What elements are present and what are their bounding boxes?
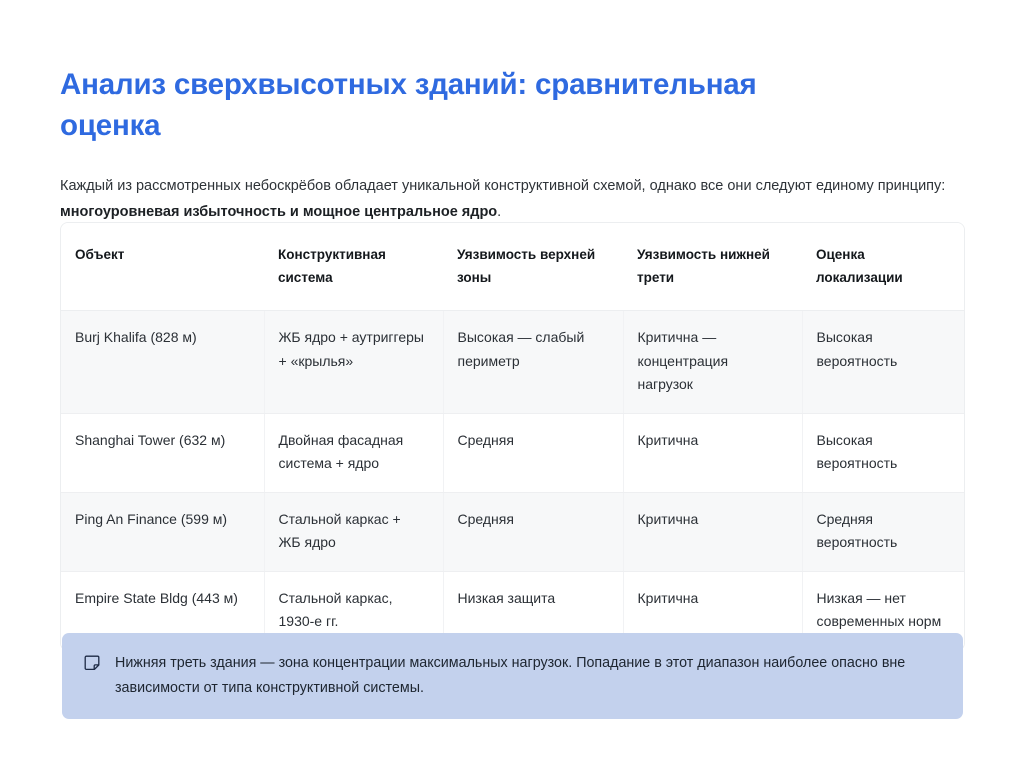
note-icon <box>84 655 100 671</box>
column-header-localization: Оценка локализации <box>802 223 964 311</box>
comparison-table: Объект Конструктивная система Уязвимость… <box>61 223 964 650</box>
cell-lower-third: Критична <box>623 492 802 571</box>
cell-system: Двойная фасадная система + ядро <box>264 413 443 492</box>
note-callout-text: Нижняя треть здания — зона концентрации … <box>115 651 937 701</box>
cell-localization: Средняя вероятность <box>802 492 964 571</box>
cell-localization: Высокая вероятность <box>802 413 964 492</box>
table-header-row: Объект Конструктивная система Уязвимость… <box>61 223 964 311</box>
cell-object: Shanghai Tower (632 м) <box>61 413 264 492</box>
page-title: Анализ сверхвысотных зданий: сравнительн… <box>60 64 860 146</box>
cell-object: Ping An Finance (599 м) <box>61 492 264 571</box>
column-header-lower-third: Уязвимость нижней трети <box>623 223 802 311</box>
table-body: Burj Khalifa (828 м) ЖБ ядро + аутриггер… <box>61 311 964 650</box>
column-header-system: Конструктивная система <box>264 223 443 311</box>
cell-upper-zone: Средняя <box>443 492 623 571</box>
cell-object: Burj Khalifa (828 м) <box>61 311 264 414</box>
intro-text-lead: Каждый из рассмотренных небоскрёбов обла… <box>60 178 945 194</box>
column-header-upper-zone: Уязвимость верхней зоны <box>443 223 623 311</box>
document-page: Анализ сверхвысотных зданий: сравнительн… <box>0 0 1024 760</box>
cell-upper-zone: Высокая — слабый периметр <box>443 311 623 414</box>
cell-system: ЖБ ядро + аутриггеры + «крылья» <box>264 311 443 414</box>
note-callout: Нижняя треть здания — зона концентрации … <box>62 633 963 719</box>
cell-lower-third: Критична — концентрация нагрузок <box>623 311 802 414</box>
table-header: Объект Конструктивная система Уязвимость… <box>61 223 964 311</box>
table-row: Shanghai Tower (632 м) Двойная фасадная … <box>61 413 964 492</box>
intro-text-tail: . <box>497 204 501 220</box>
cell-system: Стальной каркас + ЖБ ядро <box>264 492 443 571</box>
cell-upper-zone: Средняя <box>443 413 623 492</box>
table-row: Burj Khalifa (828 м) ЖБ ядро + аутриггер… <box>61 311 964 414</box>
comparison-table-card: Объект Конструктивная система Уязвимость… <box>60 222 965 651</box>
cell-lower-third: Критична <box>623 413 802 492</box>
cell-localization: Высокая вероятность <box>802 311 964 414</box>
intro-text-emphasis: многоуровневая избыточность и мощное цен… <box>60 204 497 220</box>
table-row: Ping An Finance (599 м) Стальной каркас … <box>61 492 964 571</box>
column-header-object: Объект <box>61 223 264 311</box>
intro-paragraph: Каждый из рассмотренных небоскрёбов обла… <box>60 173 950 225</box>
